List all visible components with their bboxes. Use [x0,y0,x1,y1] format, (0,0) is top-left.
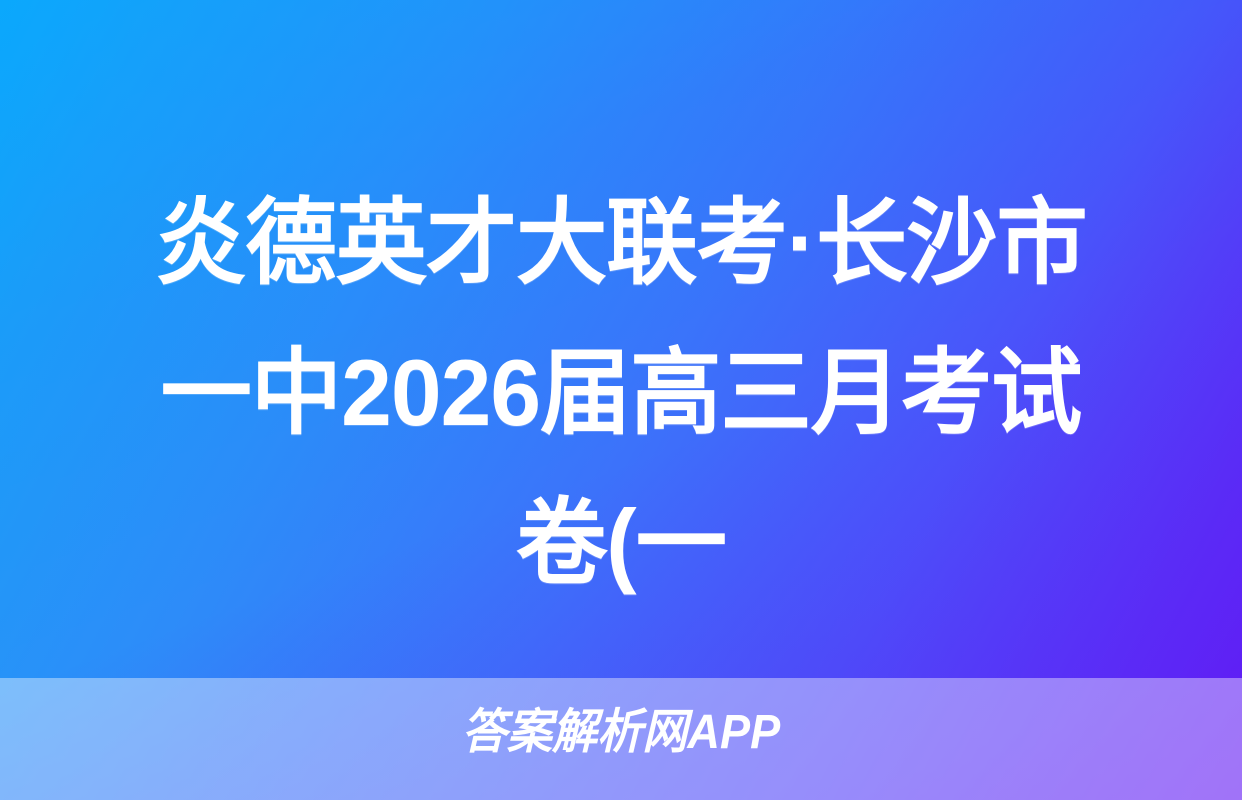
poster-canvas: 炎德英才大联考·长沙市 一中2026届高三月考试 卷(一 答案解析网APP [0,0,1242,800]
page-title: 炎德英才大联考·长沙市 一中2026届高三月考试 卷(一 [19,168,1224,618]
watermark-label: 答案解析网APP [37,702,1204,764]
